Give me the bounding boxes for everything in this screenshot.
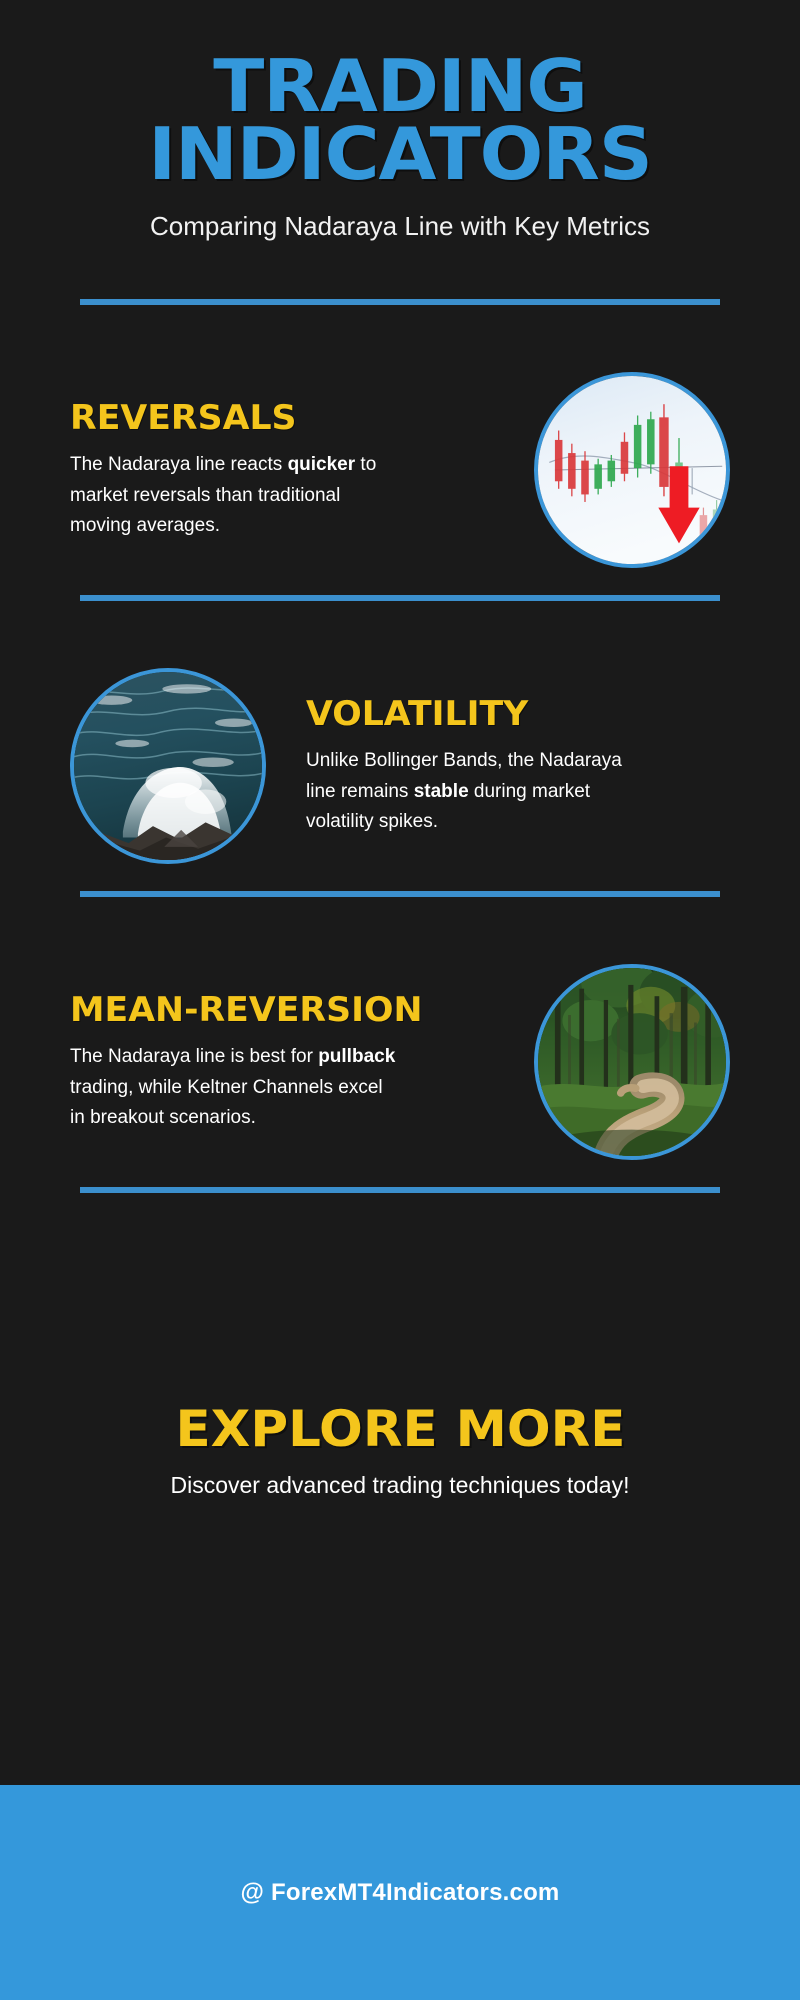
body-prefix: The Nadaraya line reacts	[70, 454, 288, 475]
forest-path-svg	[538, 968, 726, 1156]
section-volatility-text: VOLATILITY Unlike Bollinger Bands, the N…	[294, 694, 730, 838]
ocean-waves-rocks-image	[70, 668, 266, 864]
footer-bar: @ ForexMT4Indicators.com	[0, 1785, 800, 2000]
body-bold: pullback	[318, 1046, 395, 1067]
page-subtitle: Comparing Nadaraya Line with Key Metrics	[70, 209, 730, 243]
section-reversals: REVERSALS The Nadaraya line reacts quick…	[0, 345, 800, 595]
header: TRADING INDICATORS Comparing Nadaraya Li…	[0, 0, 800, 243]
footer-brand-text[interactable]: @ ForexMT4Indicators.com	[241, 1879, 560, 1907]
candlestick-chart-svg	[538, 376, 726, 564]
section-volatility: VOLATILITY Unlike Bollinger Bands, the N…	[0, 641, 800, 891]
section-reversals-heading: REVERSALS	[70, 398, 515, 438]
section-mean-reversion-heading: MEAN-REVERSION	[70, 990, 515, 1030]
body-bold: stable	[414, 781, 469, 802]
spacer-after-divider-1	[0, 305, 800, 345]
body-bold: quicker	[288, 454, 356, 475]
section-mean-reversion-body: The Nadaraya line is best for pullback t…	[70, 1042, 400, 1134]
section-mean-reversion-text: MEAN-REVERSION The Nadaraya line is best…	[70, 990, 506, 1134]
body-suffix: trading, while Keltner Channels excel in…	[70, 1077, 383, 1129]
page-title-line-2: INDICATORS	[57, 120, 743, 188]
infographic-page: TRADING INDICATORS Comparing Nadaraya Li…	[0, 0, 800, 2000]
section-reversals-body: The Nadaraya line reacts quicker to mark…	[70, 450, 400, 542]
page-title: TRADING INDICATORS	[57, 52, 743, 189]
section-mean-reversion: MEAN-REVERSION The Nadaraya line is best…	[0, 937, 800, 1187]
section-volatility-body: Unlike Bollinger Bands, the Nadaraya lin…	[306, 746, 636, 838]
spacer-after-divider-3	[0, 897, 800, 937]
section-volatility-heading: VOLATILITY	[306, 694, 738, 734]
cta-title: EXPLORE MORE	[175, 1400, 625, 1458]
cta-block: EXPLORE MORE Discover advanced trading t…	[0, 1193, 800, 1785]
spacer-after-divider-2	[0, 601, 800, 641]
forest-winding-path-image	[534, 964, 730, 1160]
cta-subtitle: Discover advanced trading techniques tod…	[170, 1472, 629, 1499]
candlestick-chart-down-arrow-image	[534, 372, 730, 568]
section-reversals-text: REVERSALS The Nadaraya line reacts quick…	[70, 398, 506, 542]
body-prefix: The Nadaraya line is best for	[70, 1046, 318, 1067]
page-title-line-1: TRADING	[57, 52, 743, 120]
ocean-waves-svg	[74, 672, 262, 860]
